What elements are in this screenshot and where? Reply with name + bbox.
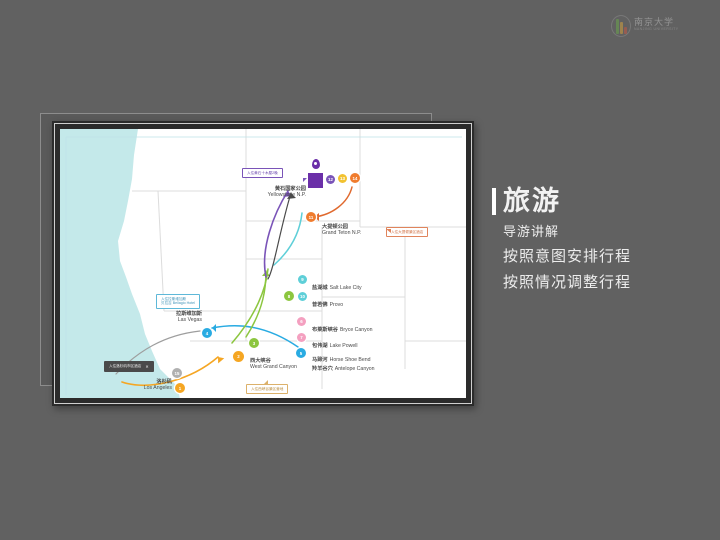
marker-2[interactable]: 2	[233, 351, 244, 362]
callout-west-grand-canyon-tail	[264, 380, 268, 384]
title-accent-bar	[492, 188, 496, 215]
label-yellowstone: 黄石国家公园 Yellowstone N.P.	[252, 187, 306, 199]
slide-root: 南京大学 NANJING UNIVERSITY	[0, 0, 720, 540]
marker-3[interactable]: 3	[249, 338, 259, 348]
panel-line-3: 按照情况调整行程	[503, 271, 631, 292]
label-las-vegas: 拉斯维加斯 Las Vegas	[154, 312, 202, 324]
marker-yellowstone-block[interactable]	[308, 173, 323, 188]
label-antelope-canyon: 羚羊谷穴Antelope Canyon	[312, 357, 375, 375]
marker-8[interactable]: 8	[284, 291, 294, 301]
map-frame: 12 13 14 11 9 10 8 6 7 5 4 3 2 15 1 黄石国家…	[52, 121, 474, 406]
callout-yellowstone[interactable]: 入住黄石十木屋2晚	[242, 168, 283, 178]
callout-los-angeles[interactable]: 入住洛杉矶市区酒店 ✕	[104, 361, 154, 372]
map-pin-dot	[314, 162, 317, 165]
label-provo: 普若佛Provo	[312, 293, 343, 311]
callout-los-angeles-text: 入住洛杉矶市区酒店	[109, 364, 141, 368]
marker-15[interactable]: 15	[172, 368, 182, 378]
map-canvas[interactable]: 12 13 14 11 9 10 8 6 7 5 4 3 2 15 1 黄石国家…	[60, 129, 466, 398]
logo-emblem-icon	[612, 16, 628, 34]
university-logo: 南京大学 NANJING UNIVERSITY	[612, 16, 679, 34]
callout-west-grand-canyon[interactable]: 入住西峡谷景区营地	[246, 384, 288, 394]
label-west-grand-canyon: 西大峡谷 West Grand Canyon	[250, 359, 297, 371]
marker-10[interactable]: 10	[298, 292, 307, 301]
marker-13[interactable]: 13	[338, 174, 347, 183]
logo-text: 南京大学 NANJING UNIVERSITY	[634, 18, 679, 31]
panel-line-2: 按照意图安排行程	[503, 245, 631, 266]
callout-grand-teton-tail	[386, 229, 391, 233]
callout-grand-teton[interactable]: 入住大提顿景区酒店	[386, 227, 428, 237]
marker-9[interactable]: 9	[298, 275, 307, 284]
callout-las-vegas[interactable]: 入住拉斯维加斯 贝拉吉 Bellagio Hotel	[156, 294, 200, 309]
page-title: 旅游	[503, 188, 561, 215]
marker-4[interactable]: 4	[202, 328, 212, 338]
marker-14[interactable]: 14	[350, 173, 360, 183]
panel-title-row: 旅游	[492, 188, 631, 215]
panel-line-1: 导游讲解	[503, 221, 631, 240]
marker-6[interactable]: 6	[297, 317, 306, 326]
marker-11[interactable]: 11	[306, 212, 316, 222]
label-grand-teton: 大提顿公园 Grand Teton N.P.	[322, 225, 361, 237]
label-los-angeles: 洛杉矶 Los Angeles	[132, 380, 172, 392]
map-frame-inner: 12 13 14 11 9 10 8 6 7 5 4 3 2 15 1 黄石国家…	[54, 123, 472, 404]
marker-5[interactable]: 5	[296, 348, 306, 358]
right-text-panel: 旅游 导游讲解 按照意图安排行程 按照情况调整行程	[492, 188, 631, 292]
marker-1[interactable]: 1	[175, 383, 185, 393]
callout-yellowstone-tail	[303, 178, 307, 182]
marker-7[interactable]: 7	[297, 333, 306, 342]
close-icon[interactable]: ✕	[145, 364, 148, 369]
marker-12[interactable]: 12	[326, 175, 335, 184]
logo-name-en: NANJING UNIVERSITY	[634, 28, 679, 32]
label-salt-lake-city: 盐湖城Salt Lake City	[312, 276, 362, 294]
